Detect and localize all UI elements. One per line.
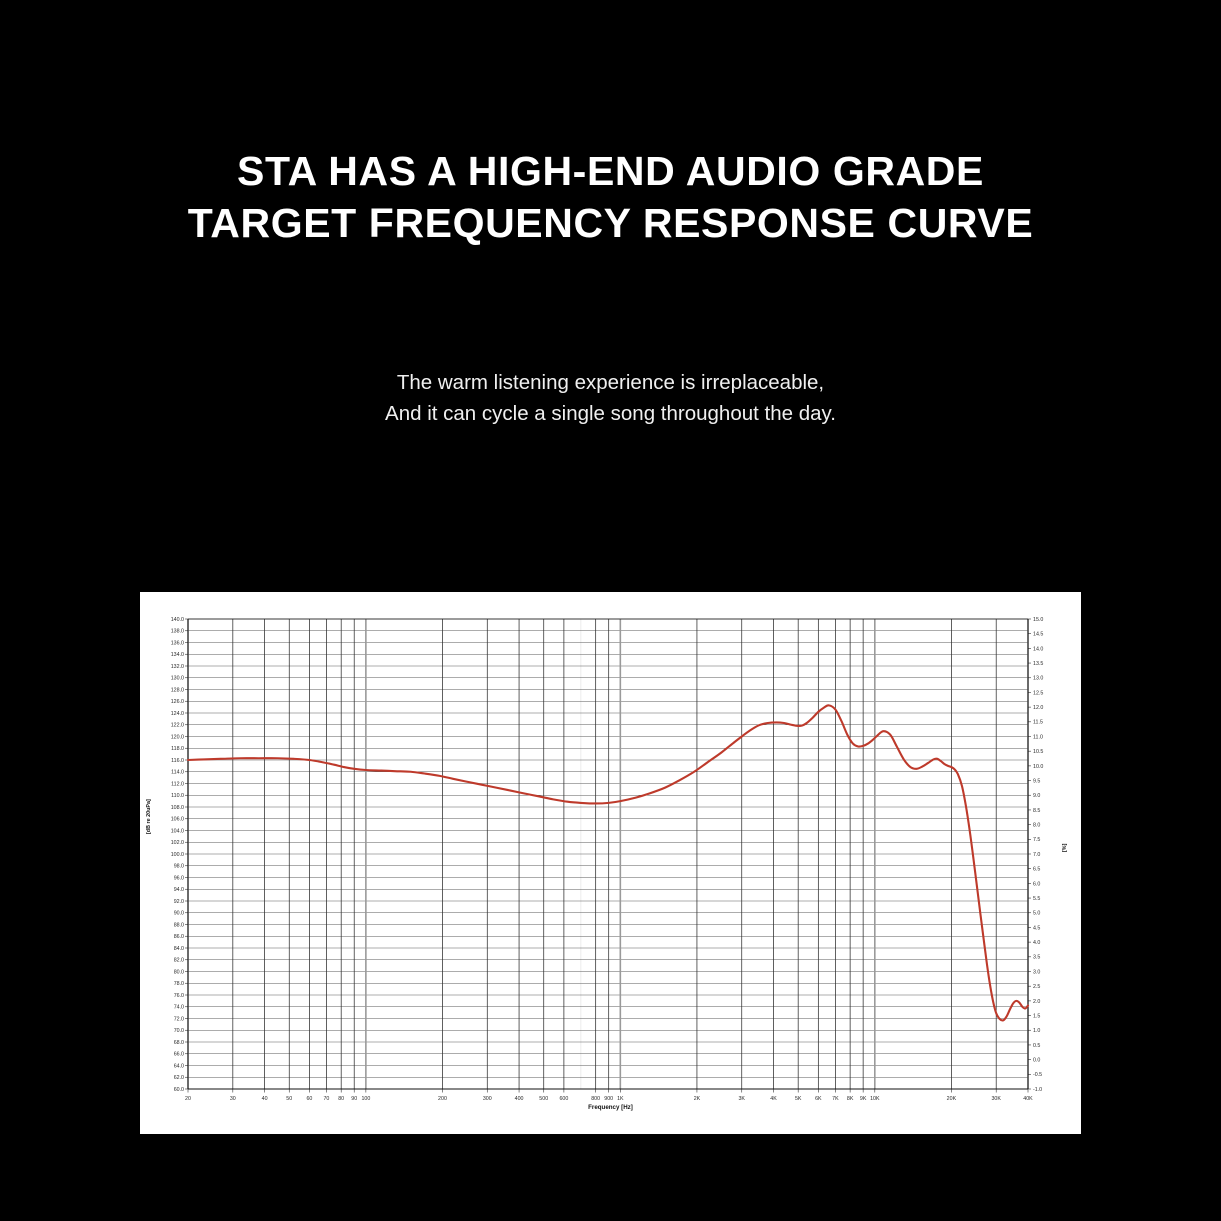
chart-container: 140.0138.0136.0134.0132.0130.0128.0126.0… — [140, 592, 1081, 1134]
svg-text:74.0: 74.0 — [174, 1005, 184, 1011]
y-axis-right-ticks: 15.014.514.013.513.012.512.011.511.010.5… — [1028, 617, 1043, 1093]
response-curve — [188, 705, 1028, 1020]
svg-text:138.0: 138.0 — [171, 629, 184, 635]
frequency-response-chart: 140.0138.0136.0134.0132.0130.0128.0126.0… — [140, 592, 1081, 1134]
x-axis-title: Frequency [Hz] — [140, 1104, 1081, 1111]
svg-text:88.0: 88.0 — [174, 922, 184, 928]
svg-text:2K: 2K — [694, 1096, 701, 1102]
svg-text:126.0: 126.0 — [171, 699, 184, 705]
svg-text:132.0: 132.0 — [171, 664, 184, 670]
svg-text:0.0: 0.0 — [1033, 1058, 1040, 1064]
page-title: STA HAS A HIGH-END AUDIO GRADE TARGET FR… — [0, 0, 1221, 249]
svg-text:86.0: 86.0 — [174, 934, 184, 940]
svg-text:70.0: 70.0 — [174, 1028, 184, 1034]
svg-text:20: 20 — [185, 1096, 191, 1102]
svg-text:3.5: 3.5 — [1033, 955, 1040, 961]
svg-text:108.0: 108.0 — [171, 805, 184, 811]
svg-text:10.0: 10.0 — [1033, 764, 1043, 770]
x-axis-ticks: 2030405060708090100200300400500600800900… — [185, 1089, 1033, 1102]
svg-text:122.0: 122.0 — [171, 723, 184, 729]
svg-text:76.0: 76.0 — [174, 993, 184, 999]
svg-text:1.0: 1.0 — [1033, 1028, 1040, 1034]
svg-text:11.0: 11.0 — [1033, 734, 1043, 740]
svg-text:112.0: 112.0 — [171, 781, 184, 787]
svg-text:82.0: 82.0 — [174, 958, 184, 964]
svg-text:4.0: 4.0 — [1033, 940, 1040, 946]
svg-text:5.5: 5.5 — [1033, 896, 1040, 902]
svg-text:500: 500 — [539, 1096, 548, 1102]
svg-text:64.0: 64.0 — [174, 1063, 184, 1069]
svg-text:30K: 30K — [991, 1096, 1001, 1102]
svg-text:1.5: 1.5 — [1033, 1013, 1040, 1019]
chart-card: 140.0138.0136.0134.0132.0130.0128.0126.0… — [140, 592, 1081, 1134]
svg-text:6.0: 6.0 — [1033, 881, 1040, 887]
svg-text:80.0: 80.0 — [174, 969, 184, 975]
svg-text:60.0: 60.0 — [174, 1087, 184, 1093]
svg-text:4.5: 4.5 — [1033, 925, 1040, 931]
svg-text:10.5: 10.5 — [1033, 749, 1043, 755]
svg-text:60: 60 — [306, 1096, 312, 1102]
svg-text:-1.0: -1.0 — [1033, 1087, 1042, 1093]
svg-text:100.0: 100.0 — [171, 852, 184, 858]
svg-text:136.0: 136.0 — [171, 640, 184, 646]
svg-text:128.0: 128.0 — [171, 687, 184, 693]
svg-text:9K: 9K — [860, 1096, 867, 1102]
svg-text:90.0: 90.0 — [174, 911, 184, 917]
svg-text:-0.5: -0.5 — [1033, 1072, 1042, 1078]
svg-text:10K: 10K — [870, 1096, 880, 1102]
svg-text:106.0: 106.0 — [171, 817, 184, 823]
svg-text:3K: 3K — [738, 1096, 745, 1102]
svg-text:66.0: 66.0 — [174, 1052, 184, 1058]
svg-text:800: 800 — [591, 1096, 600, 1102]
svg-text:1K: 1K — [617, 1096, 624, 1102]
svg-text:92.0: 92.0 — [174, 899, 184, 905]
y-axis-right-title: [%] — [1062, 844, 1068, 852]
svg-text:7.0: 7.0 — [1033, 852, 1040, 858]
svg-text:124.0: 124.0 — [171, 711, 184, 717]
svg-text:50: 50 — [286, 1096, 292, 1102]
svg-text:14.0: 14.0 — [1033, 646, 1043, 652]
svg-text:94.0: 94.0 — [174, 887, 184, 893]
svg-text:9.5: 9.5 — [1033, 778, 1040, 784]
svg-text:98.0: 98.0 — [174, 864, 184, 870]
svg-text:102.0: 102.0 — [171, 840, 184, 846]
svg-text:70: 70 — [323, 1096, 329, 1102]
svg-text:84.0: 84.0 — [174, 946, 184, 952]
svg-text:110.0: 110.0 — [171, 793, 184, 799]
svg-text:3.0: 3.0 — [1033, 969, 1040, 975]
svg-text:13.0: 13.0 — [1033, 676, 1043, 682]
svg-text:6K: 6K — [815, 1096, 822, 1102]
svg-text:120.0: 120.0 — [171, 734, 184, 740]
svg-text:400: 400 — [515, 1096, 524, 1102]
svg-text:130.0: 130.0 — [171, 676, 184, 682]
svg-text:80: 80 — [338, 1096, 344, 1102]
svg-text:600: 600 — [559, 1096, 568, 1102]
svg-text:140.0: 140.0 — [171, 617, 184, 623]
svg-text:5.0: 5.0 — [1033, 911, 1040, 917]
svg-text:104.0: 104.0 — [171, 828, 184, 834]
svg-text:8.0: 8.0 — [1033, 823, 1040, 829]
svg-text:6.5: 6.5 — [1033, 867, 1040, 873]
svg-text:5K: 5K — [795, 1096, 802, 1102]
svg-text:40: 40 — [262, 1096, 268, 1102]
svg-text:12.0: 12.0 — [1033, 705, 1043, 711]
svg-text:0.5: 0.5 — [1033, 1043, 1040, 1049]
svg-text:4K: 4K — [770, 1096, 777, 1102]
svg-text:40K: 40K — [1023, 1096, 1033, 1102]
svg-text:8K: 8K — [847, 1096, 854, 1102]
grid-horizontal-lines — [188, 619, 1028, 1089]
svg-text:11.5: 11.5 — [1033, 720, 1043, 726]
svg-text:90: 90 — [351, 1096, 357, 1102]
y-axis-left-title: [dB re 20uPa] — [146, 820, 152, 834]
svg-text:2.5: 2.5 — [1033, 984, 1040, 990]
svg-text:68.0: 68.0 — [174, 1040, 184, 1046]
hero-section: STA HAS A HIGH-END AUDIO GRADE TARGET FR… — [0, 0, 1221, 429]
svg-text:9.0: 9.0 — [1033, 793, 1040, 799]
svg-text:900: 900 — [604, 1096, 613, 1102]
svg-text:20K: 20K — [947, 1096, 957, 1102]
svg-text:13.5: 13.5 — [1033, 661, 1043, 667]
svg-text:7.5: 7.5 — [1033, 837, 1040, 843]
svg-text:200: 200 — [438, 1096, 447, 1102]
svg-text:14.5: 14.5 — [1033, 632, 1043, 638]
svg-text:7K: 7K — [832, 1096, 839, 1102]
svg-text:15.0: 15.0 — [1033, 617, 1043, 623]
svg-text:118.0: 118.0 — [171, 746, 184, 752]
svg-text:12.5: 12.5 — [1033, 690, 1043, 696]
y-axis-left-ticks: 140.0138.0136.0134.0132.0130.0128.0126.0… — [171, 617, 188, 1093]
svg-text:72.0: 72.0 — [174, 1016, 184, 1022]
svg-text:2.0: 2.0 — [1033, 999, 1040, 1005]
page-subtitle: The warm listening experience is irrepla… — [0, 249, 1221, 429]
svg-text:78.0: 78.0 — [174, 981, 184, 987]
svg-text:62.0: 62.0 — [174, 1075, 184, 1081]
svg-text:8.5: 8.5 — [1033, 808, 1040, 814]
svg-text:96.0: 96.0 — [174, 875, 184, 881]
svg-text:100: 100 — [361, 1096, 370, 1102]
svg-text:116.0: 116.0 — [171, 758, 184, 764]
svg-text:134.0: 134.0 — [171, 652, 184, 658]
svg-text:300: 300 — [483, 1096, 492, 1102]
svg-text:30: 30 — [230, 1096, 236, 1102]
svg-text:114.0: 114.0 — [171, 770, 184, 776]
